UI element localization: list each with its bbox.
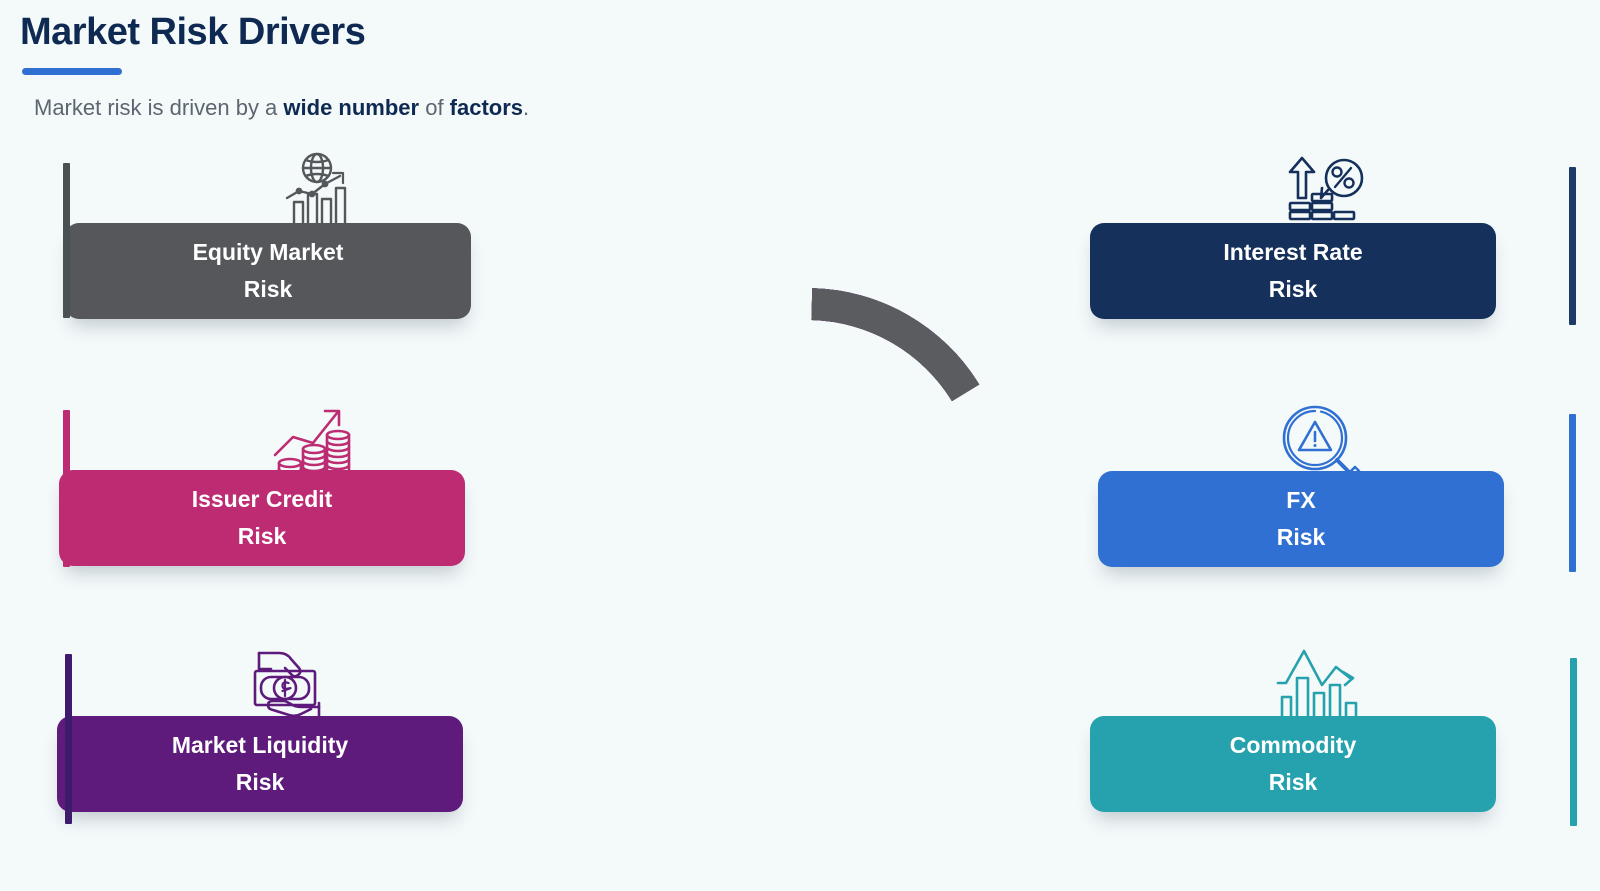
risk-card-interest-rate[interactable]: Interest Rate Risk (1090, 148, 1550, 398)
risk-card-equity-market[interactable]: Equity Market Risk (65, 148, 525, 398)
left-risk-column: Equity Market Risk (0, 0, 560, 838)
accent-bar-fx (1569, 414, 1576, 572)
risk-card-title-line2: Risk (1269, 278, 1318, 301)
risk-card-commodity[interactable]: Commodity Risk (1090, 641, 1550, 891)
accent-bar-interest-rate (1569, 167, 1576, 325)
risk-card-title-line2: Risk (236, 771, 285, 794)
risk-donut-chart (585, 268, 1029, 712)
risk-card-title-line1: Market Liquidity (172, 734, 348, 757)
risk-card-title-line1: Commodity (1230, 734, 1357, 757)
donut-svg (585, 268, 1029, 712)
risk-card-title-line1: Interest Rate (1223, 241, 1362, 264)
donut-segment[interactable] (811, 288, 979, 401)
risk-card-title-line1: Issuer Credit (192, 488, 333, 511)
risk-card-title-line1: FX (1286, 489, 1315, 512)
risk-card-title-line2: Risk (1277, 526, 1326, 549)
risk-card-title-line2: Risk (238, 525, 287, 548)
right-risk-column: Interest Rate Risk FX Risk (1040, 0, 1600, 838)
accent-bar-issuer-credit (63, 410, 70, 567)
risk-card-fx[interactable]: FX Risk (1090, 396, 1550, 646)
risk-card-body[interactable]: Issuer Credit Risk (59, 470, 465, 566)
risk-card-title-line2: Risk (1269, 771, 1318, 794)
risk-card-body[interactable]: Equity Market Risk (65, 223, 471, 319)
risk-card-body[interactable]: Market Liquidity Risk (57, 716, 463, 812)
risk-card-body[interactable]: FX Risk (1098, 471, 1504, 567)
risk-card-body[interactable]: Commodity Risk (1090, 716, 1496, 812)
accent-bar-equity-market (63, 163, 70, 318)
accent-bar-commodity (1570, 658, 1577, 826)
risk-card-title-line1: Equity Market (193, 241, 344, 264)
risk-card-issuer-credit[interactable]: Issuer Credit Risk (65, 395, 525, 645)
risk-card-market-liquidity[interactable]: Market Liquidity Risk (65, 641, 525, 891)
risk-card-title-line2: Risk (244, 278, 293, 301)
accent-bar-market-liquidity (65, 654, 72, 824)
risk-card-body[interactable]: Interest Rate Risk (1090, 223, 1496, 319)
